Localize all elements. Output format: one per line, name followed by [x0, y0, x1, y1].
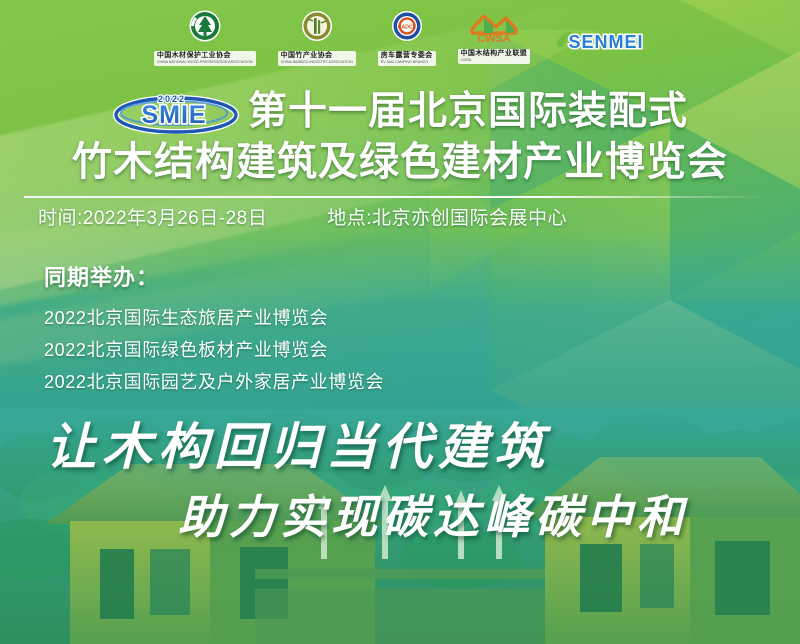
concurrent-events-heading: 同期举办： [44, 262, 664, 294]
sponsor-logo-row: 中国木材保护工业协会 CHINA NATIONAL WOOD PRESERVAT… [0, 8, 800, 66]
title-divider [24, 196, 764, 198]
concurrent-events-block: 同期举办： 2022北京国际生态旅居产业博览会 2022北京国际绿色板材产业博览… [44, 262, 664, 398]
concurrent-event-1: 2022北京国际绿色板材产业博览会 [44, 334, 664, 366]
pine-tree-in-circle-icon [186, 9, 224, 50]
event-meta: 时间:2022年3月26日-28日 地点:北京亦创国际会展中心 [38, 205, 778, 233]
sponsor-subcaption-0: CHINA NATIONAL WOOD PRESERVATION ASSOCIA… [157, 60, 253, 65]
sponsor-caption-1: 中国竹产业协会 [281, 52, 333, 59]
cadce-seal-icon: CADCE [389, 9, 425, 50]
svg-text:CWSA: CWSA [477, 33, 511, 43]
sponsor-logo-0: 中国木材保护工业协会 CHINA NATIONAL WOOD PRESERVAT… [154, 9, 256, 65]
sponsor-caption-3: 中国木结构产业联盟 [461, 50, 528, 57]
concurrent-event-0: 2022北京国际生态旅居产业博览会 [44, 302, 664, 334]
house-roof-cwsa-icon: CWSA [466, 9, 522, 48]
smie-logo-text: SMIE [141, 101, 206, 129]
isometric-cube-pattern [370, 0, 800, 470]
sponsor-subcaption-3: CWSA [461, 58, 528, 63]
svg-text:CADCE: CADCE [397, 24, 416, 30]
bamboo-in-oval-seal-icon [299, 9, 335, 50]
event-date: 时间:2022年3月26日-28日 [38, 205, 267, 233]
sponsor-logo-3: CWSA 中国木结构产业联盟 CWSA [458, 9, 531, 65]
sponsor-caption-0: 中国木材保护工业协会 [157, 52, 231, 59]
svg-text:SENMEI: SENMEI [569, 32, 644, 52]
sponsor-logo-2: CADCE 房车露营专委会 RV AND CAMPING BRANCH [378, 9, 436, 65]
sponsor-logo-1: 中国竹产业协会 CHINA BAMBOO INDUSTRY ASSOCIATIO… [278, 9, 356, 65]
sponsor-caption-2: 房车露营专委会 [381, 52, 433, 59]
leaf-senmei-wordmark-icon: SENMEI [552, 28, 646, 59]
slogan-line-1: 让木构回归当代建筑 [46, 416, 550, 478]
smie-logo: 2022 SMIE [112, 90, 240, 134]
title-line-2: 竹木结构建筑及绿色建材产业博览会 [0, 136, 800, 188]
poster-title: 2022 SMIE 第十一届北京国际装配式 竹木结构建筑及绿色建材产业博览会 [0, 88, 800, 188]
event-venue: 地点:北京亦创国际会展中心 [327, 205, 567, 233]
sponsor-subcaption-1: CHINA BAMBOO INDUSTRY ASSOCIATION [281, 60, 353, 65]
title-line-1: 第十一届北京国际装配式 [248, 88, 688, 136]
concurrent-event-2: 2022北京国际园艺及户外家居产业博览会 [44, 366, 664, 398]
sponsor-logo-4: SENMEI [552, 9, 646, 65]
slogan-line-2: 助力实现碳达峰碳中和 [178, 488, 688, 546]
sponsor-subcaption-2: RV AND CAMPING BRANCH [381, 60, 433, 65]
exhibition-poster: 中国木材保护工业协会 CHINA NATIONAL WOOD PRESERVAT… [0, 0, 800, 644]
